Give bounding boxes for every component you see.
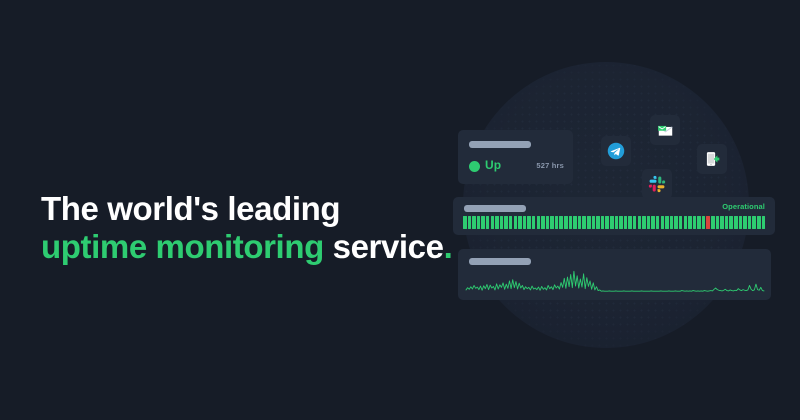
uptime-bar-up [463, 216, 467, 229]
uptime-bar-up [523, 216, 527, 229]
uptime-bar-up [688, 216, 692, 229]
uptime-bar-up [720, 216, 724, 229]
uptime-bar-up [504, 216, 508, 229]
uptime-bar-up [569, 216, 573, 229]
uptime-bar-up [596, 216, 600, 229]
uptime-bar-up [610, 216, 614, 229]
status-card[interactable]: Up 527 hrs [458, 130, 573, 184]
uptime-bar-up [592, 216, 596, 229]
uptime-bar-up [541, 216, 545, 229]
uptime-bar-up [757, 216, 761, 229]
uptime-bar-up [573, 216, 577, 229]
headline-line-1: The world's leading [41, 190, 441, 228]
uptime-bar-up [564, 216, 568, 229]
uptime-bar-up [734, 216, 738, 229]
uptime-bar-up [514, 216, 518, 229]
uptime-bar-up [509, 216, 513, 229]
headline-period: . [444, 228, 453, 265]
uptime-bar-up [532, 216, 536, 229]
uptime-bar-up [605, 216, 609, 229]
sms-icon[interactable] [697, 144, 727, 174]
uptime-bar-up [601, 216, 605, 229]
uptime-bar-up [537, 216, 541, 229]
status-row: Up 527 hrs [469, 156, 564, 176]
uptime-bar-up [472, 216, 476, 229]
uptime-bar-down [706, 216, 710, 229]
uptime-bar-up [491, 216, 495, 229]
uptime-bar-up [748, 216, 752, 229]
hero-banner: The world's leading uptime monitoring se… [0, 0, 800, 420]
uptime-bar-up [679, 216, 683, 229]
hero-headline: The world's leading uptime monitoring se… [41, 190, 441, 266]
uptime-bar-up [615, 216, 619, 229]
status-uptime-meta: 527 hrs [536, 161, 564, 170]
uptime-bar-up [762, 216, 766, 229]
uptime-bar-up [729, 216, 733, 229]
uptime-bar-up [527, 216, 531, 229]
uptime-bar-up [752, 216, 756, 229]
uptime-bar-up [642, 216, 646, 229]
uptime-bar-up [624, 216, 628, 229]
uptime-bar-up [711, 216, 715, 229]
uptime-bar-up [481, 216, 485, 229]
uptime-bar-up [725, 216, 729, 229]
uptime-bar-up [628, 216, 632, 229]
operational-status-label: Operational [722, 202, 765, 211]
headline-line-2: uptime monitoring service. [41, 228, 441, 266]
status-label: Up [485, 158, 501, 172]
uptime-bar-chart [463, 216, 765, 229]
uptime-bar-up [468, 216, 472, 229]
uptime-bar-up [555, 216, 559, 229]
uptime-bar-up [619, 216, 623, 229]
uptime-bar-up [739, 216, 743, 229]
uptime-bar-up [651, 216, 655, 229]
uptime-bar-up [743, 216, 747, 229]
uptime-bar-up [559, 216, 563, 229]
sparkline-svg [466, 269, 764, 295]
uptime-bar-up [647, 216, 651, 229]
uptime-bar-up [661, 216, 665, 229]
uptime-bar-up [665, 216, 669, 229]
telegram-glyph [607, 142, 625, 160]
slack-icon[interactable] [642, 169, 672, 199]
uptime-bar-up [477, 216, 481, 229]
uptime-bar-up [546, 216, 550, 229]
uptime-bar-up [587, 216, 591, 229]
status-dot-icon [469, 161, 480, 172]
uptime-card[interactable]: Operational [453, 197, 775, 235]
uptime-bar-up [638, 216, 642, 229]
telegram-icon[interactable] [601, 136, 631, 166]
uptime-bar-up [495, 216, 499, 229]
uptime-bar-up [670, 216, 674, 229]
uptime-bar-up [684, 216, 688, 229]
envelope-glyph [656, 121, 675, 140]
uptime-card-title-placeholder [464, 205, 526, 212]
headline-accent: uptime monitoring [41, 228, 324, 265]
uptime-bar-up [633, 216, 637, 229]
response-time-sparkline [466, 269, 764, 295]
response-graph-card[interactable] [458, 249, 771, 300]
uptime-bar-up [702, 216, 706, 229]
uptime-bar-up [716, 216, 720, 229]
uptime-bar-up [656, 216, 660, 229]
slack-glyph [648, 175, 666, 193]
uptime-bar-up [693, 216, 697, 229]
uptime-bar-up [500, 216, 504, 229]
uptime-bar-up [518, 216, 522, 229]
email-icon[interactable] [650, 115, 680, 145]
uptime-bar-up [674, 216, 678, 229]
uptime-bar-up [550, 216, 554, 229]
graph-card-title-placeholder [469, 258, 531, 265]
status-card-title-placeholder [469, 141, 531, 148]
uptime-bar-up [697, 216, 701, 229]
uptime-bar-up [486, 216, 490, 229]
headline-rest: service [324, 228, 444, 265]
mobile-push-glyph [703, 150, 721, 168]
uptime-bar-up [582, 216, 586, 229]
uptime-bar-up [578, 216, 582, 229]
